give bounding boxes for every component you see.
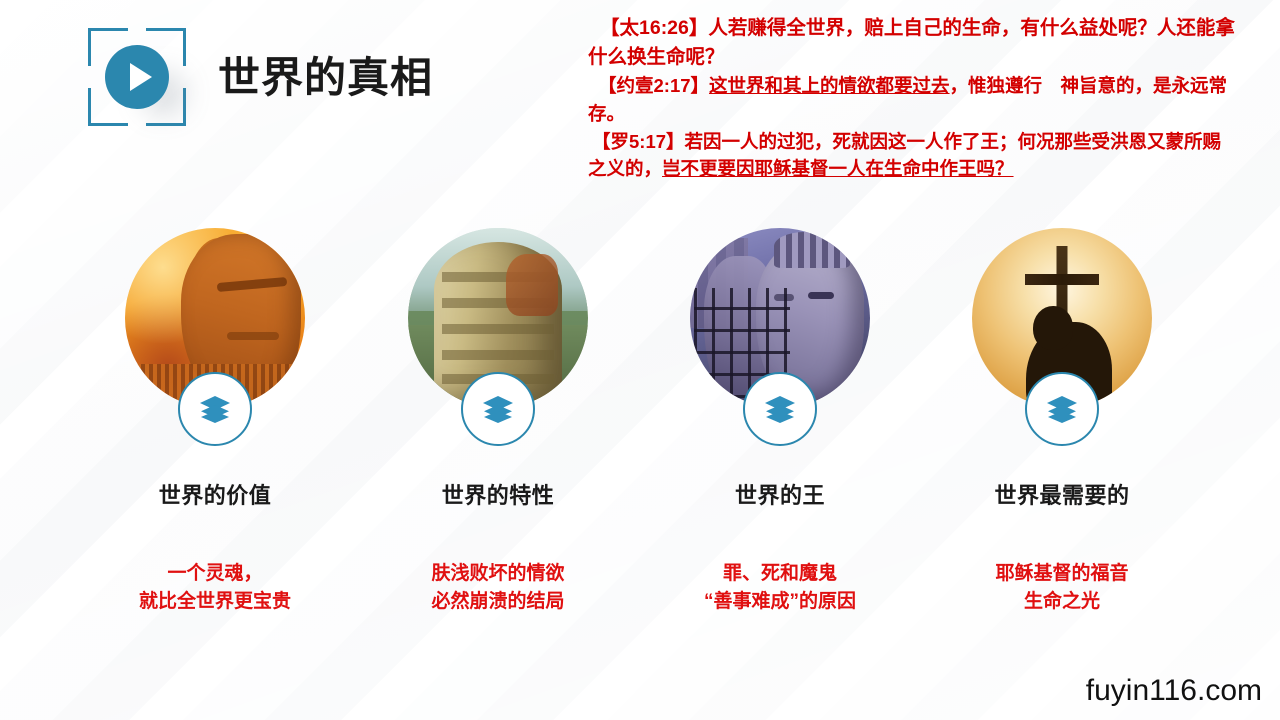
layers-icon-badge-4[interactable] [1025, 372, 1099, 446]
logo-frame-left-bottom [88, 88, 91, 126]
babel-tier [442, 324, 555, 334]
layers-icon [482, 394, 514, 424]
page-title: 世界的真相 [218, 44, 433, 105]
layers-icon-badge-3[interactable] [743, 372, 817, 446]
verse-1john-ref: 【约壹2:17】 [598, 75, 709, 96]
layers-icon [764, 394, 796, 424]
cross-horizontal-beam [1025, 274, 1099, 285]
babel-tier [442, 350, 555, 360]
sphinx-brow [217, 277, 288, 292]
babel-sky [408, 228, 588, 311]
verse-1john: 【约壹2:17】这世界和其上的情欲都要过去，惟独遵行 神旨意的，是永远常存。 [588, 72, 1236, 126]
slide-canvas: 世界的真相 【太16:26】人若赚得全世界，赔上自己的生命，有什么益处呢？人还能… [0, 0, 1280, 720]
logo[interactable] [88, 28, 186, 126]
verse-romans-ref: 【罗5:17】 [592, 131, 685, 152]
column-note-2-line1: 肤浅败坏的情欲 [373, 560, 623, 588]
photo-wrap-2 [408, 228, 588, 408]
cross-vertical-beam [1057, 246, 1068, 376]
content-column-1[interactable]: 世界的价值 一个灵魂， 就比全世界更宝贵 [90, 228, 340, 616]
content-column-2[interactable]: 世界的特性 肤浅败坏的情欲 必然崩溃的结局 [373, 228, 623, 616]
verse-romans: 【罗5:17】若因一人的过犯，死就因这一人作了王；何况那些受洪恩又蒙所赐之义的，… [588, 128, 1236, 182]
person-head-silhouette [1033, 306, 1073, 350]
logo-frame-bottom-left [88, 123, 128, 126]
layers-icon-badge-2[interactable] [461, 372, 535, 446]
babel-tier [442, 272, 555, 282]
pharaoh-crown [774, 232, 850, 268]
column-note-1-line2: 就比全世界更宝贵 [90, 588, 340, 616]
column-note-4-line1: 耶稣基督的福音 [937, 560, 1187, 588]
column-note-3-line2: “善事难成”的原因 [655, 588, 905, 616]
logo-frame-right-top [183, 28, 186, 66]
content-column-3[interactable]: 世界的王 罪、死和魔鬼 “善事难成”的原因 [655, 228, 905, 616]
column-note-4-line2: 生命之光 [937, 588, 1187, 616]
column-note-4: 耶稣基督的福音 生命之光 [937, 560, 1187, 616]
logo-frame-right-bottom [183, 88, 186, 126]
logo-frame-top-right [146, 28, 186, 31]
layers-icon-badge-1[interactable] [178, 372, 252, 446]
scripture-block: 【太16:26】人若赚得全世界，赔上自己的生命，有什么益处呢？人还能拿什么换生命… [588, 14, 1236, 183]
column-note-1: 一个灵魂， 就比全世界更宝贵 [90, 560, 340, 616]
photo-wrap-3 [690, 228, 870, 408]
play-circle-icon[interactable] [105, 45, 169, 109]
column-title-4: 世界最需要的 [937, 478, 1187, 510]
pharaoh-eye-secondary [774, 294, 794, 301]
column-title-2: 世界的特性 [373, 478, 623, 510]
column-title-1: 世界的价值 [90, 478, 340, 510]
sun-glow [125, 228, 247, 343]
logo-frame-left-top [88, 28, 91, 66]
logo-frame-bottom-right [146, 123, 186, 126]
babel-ruddy-section [506, 254, 558, 316]
verse-matthew: 【太16:26】人若赚得全世界，赔上自己的生命，有什么益处呢？人还能拿什么换生命… [588, 14, 1236, 71]
layers-icon [1046, 394, 1078, 424]
babel-tier [442, 298, 555, 308]
pharaoh-eye [808, 292, 834, 299]
logo-frame-top-left [88, 28, 128, 31]
column-note-2-line2: 必然崩溃的结局 [373, 588, 623, 616]
sphinx-headdress [187, 238, 249, 388]
pharaoh-pillars [690, 238, 748, 328]
layers-icon [199, 394, 231, 424]
column-note-1-line1: 一个灵魂， [90, 560, 340, 588]
site-watermark: fuyin116.com [1086, 674, 1262, 708]
column-note-3: 罪、死和魔鬼 “善事难成”的原因 [655, 560, 905, 616]
play-triangle-icon [130, 63, 152, 91]
column-note-2: 肤浅败坏的情欲 必然崩溃的结局 [373, 560, 623, 616]
sphinx-mouth [227, 332, 279, 340]
content-column-4[interactable]: 世界最需要的 耶稣基督的福音 生命之光 [937, 228, 1187, 616]
column-title-3: 世界的王 [655, 478, 905, 510]
photo-wrap-1 [125, 228, 305, 408]
verse-matthew-ref: 【太16:26】 [600, 17, 708, 39]
photo-wrap-4 [972, 228, 1152, 408]
verse-romans-underlined: 岂不更要因耶稣基督一人在生命中作王吗？ [662, 158, 1014, 179]
column-note-3-line1: 罪、死和魔鬼 [655, 560, 905, 588]
verse-1john-underlined: 这世界和其上的情欲都要过去 [709, 75, 950, 96]
